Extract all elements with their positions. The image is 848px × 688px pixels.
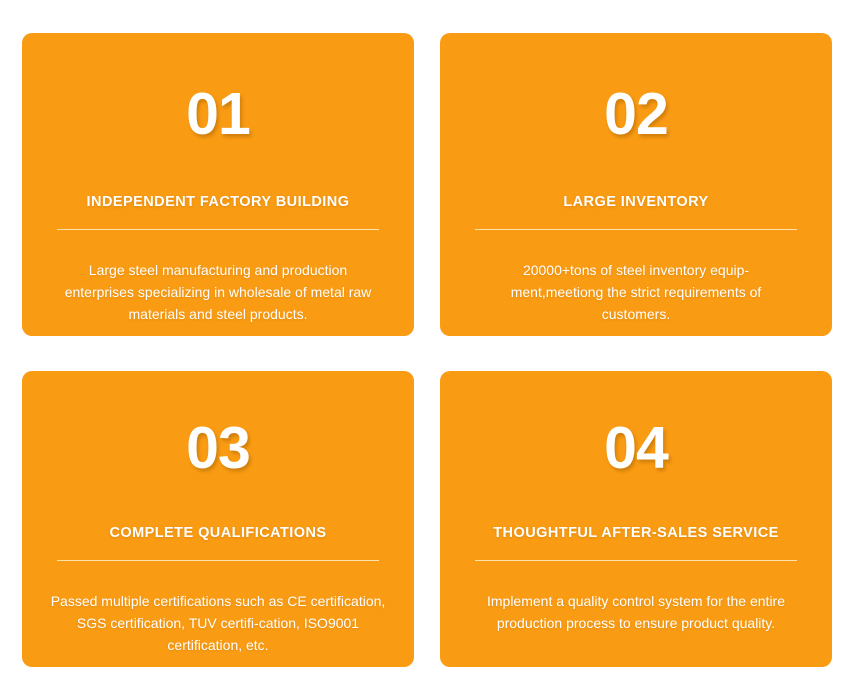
card-divider: [475, 229, 797, 230]
card-title: COMPLETE QUALIFICATIONS: [109, 525, 326, 542]
card-divider: [57, 560, 379, 561]
card-number: 03: [186, 419, 250, 478]
feature-card-02[interactable]: 02 LARGE INVENTORY 20000+tons of steel i…: [440, 33, 832, 336]
card-body-text: 20000+tons of steel inventory equip-ment…: [480, 259, 792, 325]
card-number: 04: [604, 419, 668, 478]
feature-card-04[interactable]: 04 THOUGHTFUL AFTER-SALES SERVICE Implem…: [440, 371, 832, 667]
card-number: 01: [186, 85, 250, 144]
card-title: THOUGHTFUL AFTER-SALES SERVICE: [493, 525, 779, 542]
feature-card-grid: 01 INDEPENDENT FACTORY BUILDING Large st…: [0, 0, 848, 688]
card-body-text: Large steel manufacturing and production…: [57, 259, 379, 325]
card-body-text: Implement a quality control system for t…: [479, 590, 793, 634]
card-title: LARGE INVENTORY: [563, 194, 708, 211]
card-divider: [57, 229, 379, 230]
card-number: 02: [604, 85, 668, 144]
feature-card-03[interactable]: 03 COMPLETE QUALIFICATIONS Passed multip…: [22, 371, 414, 667]
card-body-text: Passed multiple certifications such as C…: [46, 590, 390, 656]
feature-card-01[interactable]: 01 INDEPENDENT FACTORY BUILDING Large st…: [22, 33, 414, 336]
card-title: INDEPENDENT FACTORY BUILDING: [87, 194, 350, 211]
card-divider: [475, 560, 797, 561]
